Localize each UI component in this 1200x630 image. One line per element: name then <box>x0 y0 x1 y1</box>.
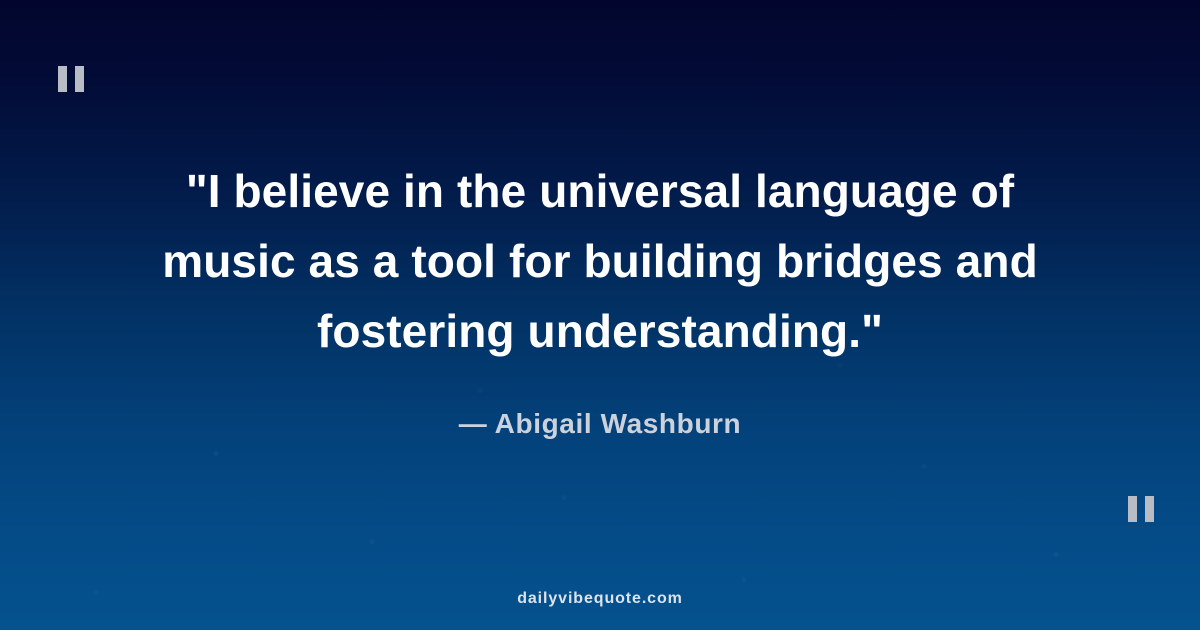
quote-content: "I believe in the universal language of … <box>0 0 1200 630</box>
quote-line: fostering understanding." <box>55 296 1145 366</box>
quote-line: music as a tool for building bridges and <box>55 226 1145 296</box>
quote-attribution: — Abigail Washburn <box>459 408 742 440</box>
quote-card: "I believe in the universal language of … <box>0 0 1200 630</box>
quote-text: "I believe in the universal language of … <box>55 156 1145 366</box>
quote-line: "I believe in the universal language of <box>55 156 1145 226</box>
site-footer: dailyvibequote.com <box>0 590 1200 608</box>
